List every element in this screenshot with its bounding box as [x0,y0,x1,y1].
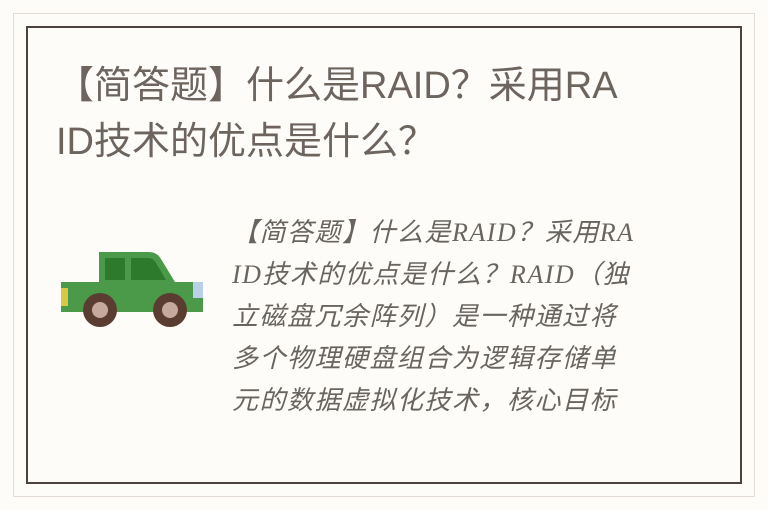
page-title-line-1: 【简答题】什么是RAID？采用RA [56,58,676,114]
truck-taillight [61,288,68,306]
truck-illustration [57,232,212,332]
truck-rear-hub [92,302,108,318]
green-pickup-truck-icon [57,232,212,332]
page-title-line-2: ID技术的优点是什么？ [56,114,676,170]
body-paragraph: 【简答题】什么是RAID？采用RA ID技术的优点是什么？RAID（独 立磁盘冗… [232,212,650,422]
truck-front-hub [162,302,178,318]
body-line-3: 立磁盘冗余阵列）是一种通过将 [232,296,650,338]
truck-rear-window [105,258,125,280]
page-title: 【简答题】什么是RAID？采用RA ID技术的优点是什么？ [56,58,676,170]
body-line-2: ID技术的优点是什么？RAID（独 [232,254,650,296]
page-root: 【简答题】什么是RAID？采用RA ID技术的优点是什么？ [0,0,768,510]
truck-front-bumper [193,298,203,312]
body-line-4: 多个物理硬盘组合为逻辑存储单 [232,338,650,380]
body-line-5: 元的数据虚拟化技术，核心目标 [232,380,650,422]
truck-headlight [193,282,203,298]
body-line-1: 【简答题】什么是RAID？采用RA [232,212,650,254]
